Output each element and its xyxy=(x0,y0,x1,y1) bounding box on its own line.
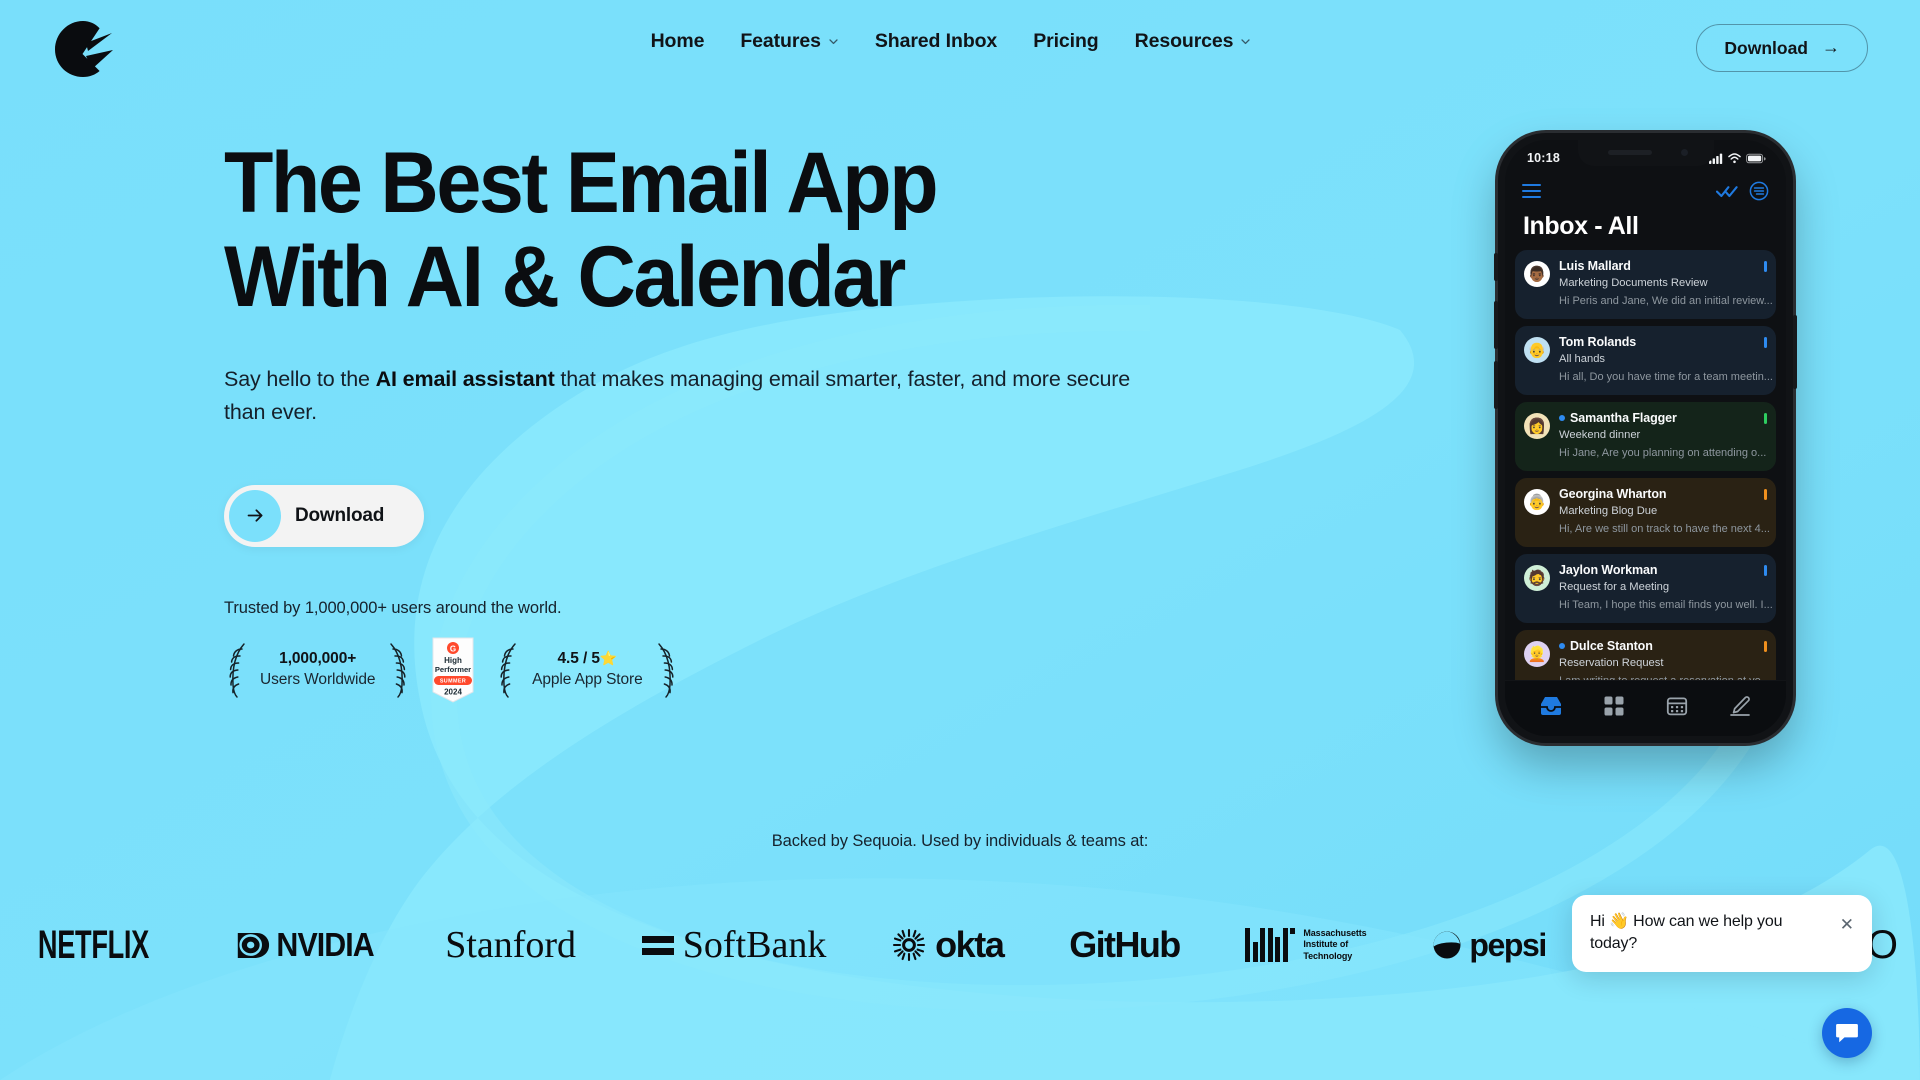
page-title: The Best Email App With AI & Calendar xyxy=(224,140,1164,321)
hamburger-menu-icon[interactable] xyxy=(1522,184,1541,199)
app-bar-actions xyxy=(1716,181,1769,201)
pepsi-globe-icon xyxy=(1432,930,1462,960)
phone-volume-up-button xyxy=(1494,301,1498,349)
logo-github: GitHub xyxy=(1069,924,1179,966)
email-body: Samantha Flagger Weekend dinner Hi Jane,… xyxy=(1559,411,1766,461)
svg-text:2024: 2024 xyxy=(444,687,462,696)
priority-flag xyxy=(1764,641,1767,652)
email-preview: Hi all, Do you have time for a team meet… xyxy=(1559,371,1773,383)
sender-name: Georgina Wharton xyxy=(1559,487,1666,501)
nav-item-features[interactable]: Features xyxy=(722,30,857,53)
hero-subheading: Say hello to the AI email assistant that… xyxy=(224,363,1134,428)
avatar: 👱 xyxy=(1524,641,1550,667)
nvidia-wordmark: NVIDIA xyxy=(276,926,373,964)
nvidia-eye-icon xyxy=(235,929,272,961)
nav-item-pricing[interactable]: Pricing xyxy=(1015,30,1116,53)
svg-text:High: High xyxy=(444,656,462,665)
logo-pepsi: pepsi xyxy=(1432,927,1546,964)
sender-name: Samantha Flagger xyxy=(1570,411,1677,425)
nav-item-label: Features xyxy=(740,30,821,53)
laurel-left-icon xyxy=(495,641,521,699)
chevron-down-icon xyxy=(828,36,839,47)
sender-name: Tom Rolands xyxy=(1559,335,1636,349)
badge-users-label: Users Worldwide xyxy=(260,671,375,689)
hero-download-label: Download xyxy=(295,505,384,527)
badge-rating-label: Apple App Store xyxy=(531,671,643,689)
front-camera xyxy=(1681,149,1688,156)
calendar-icon[interactable] xyxy=(1660,691,1694,721)
email-sender: Dulce Stanton xyxy=(1559,639,1754,653)
priority-flag xyxy=(1764,337,1767,348)
nav-download-label: Download xyxy=(1724,38,1808,59)
headline-line-2: With AI & Calendar xyxy=(224,234,1164,322)
wifi-icon xyxy=(1728,153,1741,164)
g2-high-performer-badge: G High Performer SUMMER 2024 xyxy=(429,636,477,704)
email-subject: Weekend dinner xyxy=(1559,429,1640,441)
email-sender: Samantha Flagger xyxy=(1559,411,1754,425)
softbank-wordmark: SoftBank xyxy=(683,923,827,967)
okta-wordmark: okta xyxy=(935,924,1003,966)
email-body: Tom Rolands All hands Hi all, Do you hav… xyxy=(1559,335,1766,385)
avatar: 👩 xyxy=(1524,413,1550,439)
inbox-icon[interactable] xyxy=(1534,691,1568,721)
phone-volume-down-button xyxy=(1494,361,1498,409)
top-navigation: Home Features Shared Inbox Pricing Resou… xyxy=(0,0,1920,98)
email-subject: Reservation Request xyxy=(1559,657,1663,669)
email-preview: Hi, Are we still on track to have the ne… xyxy=(1559,523,1770,535)
compose-icon[interactable] xyxy=(1723,691,1757,721)
email-list-item[interactable]: 👱 Dulce Stanton Reservation Request I am… xyxy=(1515,630,1776,680)
laurel-right-icon xyxy=(653,641,679,699)
svg-text:Performer: Performer xyxy=(435,665,471,674)
email-sender: Jaylon Workman xyxy=(1559,563,1754,577)
email-subject: Marketing Documents Review xyxy=(1559,277,1708,289)
mit-bars-icon xyxy=(1245,928,1295,962)
sender-name: Luis Mallard xyxy=(1559,259,1631,273)
double-check-icon[interactable] xyxy=(1716,184,1738,198)
logo-stanford: Stanford xyxy=(445,923,576,967)
logo-softbank: SoftBank xyxy=(642,923,827,967)
phone-screen: 10:18 xyxy=(1505,140,1786,736)
email-body: Dulce Stanton Reservation Request I am w… xyxy=(1559,639,1766,680)
chat-bubble-icon xyxy=(1834,1020,1860,1046)
email-subject: All hands xyxy=(1559,353,1605,365)
nav-links: Home Features Shared Inbox Pricing Resou… xyxy=(0,30,1920,53)
hero-section: The Best Email App With AI & Calendar Sa… xyxy=(224,140,1224,704)
email-preview: Hi Jane, Are you planning on attending o… xyxy=(1559,447,1766,459)
filter-circle-icon[interactable] xyxy=(1749,181,1769,201)
trust-badges: 1,000,000+ Users Worldwide G High Perfor… xyxy=(224,636,1224,704)
star-icon: ⭐ xyxy=(600,650,617,666)
nav-item-label: Resources xyxy=(1135,30,1234,53)
chat-launcher-button[interactable] xyxy=(1822,1008,1872,1058)
email-subject: Request for a Meeting xyxy=(1559,581,1669,593)
badge-users-value: 1,000,000+ xyxy=(260,650,375,668)
chevron-down-icon xyxy=(1240,36,1251,47)
phone-app-bar xyxy=(1505,174,1786,208)
email-body: Georgina Wharton Marketing Blog Due Hi, … xyxy=(1559,487,1766,537)
nav-item-label: Pricing xyxy=(1033,30,1098,53)
logo-okta: okta xyxy=(892,924,1003,966)
chat-greeting-bubble: Hi 👋 How can we help you today? ✕ xyxy=(1572,895,1872,972)
laurel-left-icon xyxy=(224,641,250,699)
badge-users: 1,000,000+ Users Worldwide xyxy=(250,650,385,689)
battery-icon xyxy=(1746,153,1766,164)
status-time: 10:18 xyxy=(1527,151,1560,165)
nav-item-resources[interactable]: Resources xyxy=(1117,30,1270,53)
email-sender: Luis Mallard xyxy=(1559,259,1754,273)
close-icon[interactable]: ✕ xyxy=(1840,911,1854,933)
email-body: Luis Mallard Marketing Documents Review … xyxy=(1559,259,1766,309)
phone-notch xyxy=(1578,140,1714,166)
email-list-item[interactable]: 👩 Samantha Flagger Weekend dinner Hi Jan… xyxy=(1515,402,1776,471)
trusted-text: Trusted by 1,000,000+ users around the w… xyxy=(224,599,1224,618)
sub-before: Say hello to the xyxy=(224,367,376,391)
inbox-title: Inbox - All xyxy=(1523,212,1639,241)
phone-bottom-nav xyxy=(1505,680,1786,736)
email-list-item[interactable]: 👵 Georgina Wharton Marketing Blog Due Hi… xyxy=(1515,478,1776,547)
laurel-right-icon xyxy=(385,641,411,699)
okta-burst-icon xyxy=(892,928,926,962)
email-preview: Hi Peris and Jane, We did an initial rev… xyxy=(1559,295,1773,307)
speaker-grille xyxy=(1608,150,1652,155)
logo-nvidia: NVIDIA xyxy=(235,926,374,964)
pepsi-wordmark: pepsi xyxy=(1469,927,1546,964)
svg-text:G: G xyxy=(450,644,456,653)
hero-download-button[interactable]: Download xyxy=(224,485,424,547)
sender-name: Jaylon Workman xyxy=(1559,563,1657,577)
email-sender: Georgina Wharton xyxy=(1559,487,1754,501)
sub-bold: AI email assistant xyxy=(376,367,555,391)
status-icons xyxy=(1709,153,1766,164)
email-body: Jaylon Workman Request for a Meeting Hi … xyxy=(1559,563,1766,613)
sender-name: Dulce Stanton xyxy=(1570,639,1653,653)
email-preview: Hi Team, I hope this email finds you wel… xyxy=(1559,599,1773,611)
email-list-item[interactable]: 🧔 Jaylon Workman Request for a Meeting H… xyxy=(1515,554,1776,623)
avatar: 👨🏾 xyxy=(1524,261,1550,287)
priority-flag xyxy=(1764,261,1767,272)
nav-item-shared-inbox[interactable]: Shared Inbox xyxy=(857,30,1015,53)
avatar: 🧔 xyxy=(1524,565,1550,591)
priority-flag xyxy=(1764,413,1767,424)
nav-item-label: Shared Inbox xyxy=(875,30,997,53)
phone-mute-switch xyxy=(1494,253,1498,281)
email-list: 👨🏾 Luis Mallard Marketing Documents Revi… xyxy=(1515,250,1776,680)
priority-flag xyxy=(1764,565,1767,576)
email-sender: Tom Rolands xyxy=(1559,335,1754,349)
logo-netflix: NETFLIX xyxy=(38,922,149,968)
chat-greeting-text: Hi 👋 How can we help you today? xyxy=(1590,911,1830,956)
softbank-bars-icon xyxy=(642,936,674,955)
arrow-right-icon xyxy=(229,490,281,542)
email-list-item[interactable]: 👴 Tom Rolands All hands Hi all, Do you h… xyxy=(1515,326,1776,395)
priority-flag xyxy=(1764,489,1767,500)
email-subject: Marketing Blog Due xyxy=(1559,505,1657,517)
logo-mit: Massachusetts Institute of Technology xyxy=(1245,928,1366,963)
unread-dot-icon xyxy=(1559,415,1565,421)
nav-item-home[interactable]: Home xyxy=(651,30,723,53)
badge-rating-value: 4.5 / 5⭐ xyxy=(531,650,643,668)
avatar: 👵 xyxy=(1524,489,1550,515)
badge-rating: 4.5 / 5⭐ Apple App Store xyxy=(521,650,653,689)
unread-dot-icon xyxy=(1559,643,1565,649)
headline-line-1: The Best Email App xyxy=(224,135,936,231)
arrow-right-icon: → xyxy=(1822,38,1840,56)
apps-grid-icon[interactable] xyxy=(1597,691,1631,721)
email-list-item[interactable]: 👨🏾 Luis Mallard Marketing Documents Revi… xyxy=(1515,250,1776,319)
svg-text:SUMMER: SUMMER xyxy=(440,678,466,684)
avatar: 👴 xyxy=(1524,337,1550,363)
nav-item-label: Home xyxy=(651,30,705,53)
phone-power-button xyxy=(1793,315,1797,389)
nav-download-button[interactable]: Download → xyxy=(1696,24,1868,72)
phone-mockup: 10:18 xyxy=(1498,133,1793,743)
badge-rating-number: 4.5 / 5 xyxy=(557,650,599,667)
social-proof-text: Backed by Sequoia. Used by individuals &… xyxy=(0,832,1920,851)
mit-wordmark: Massachusetts Institute of Technology xyxy=(1303,928,1366,963)
